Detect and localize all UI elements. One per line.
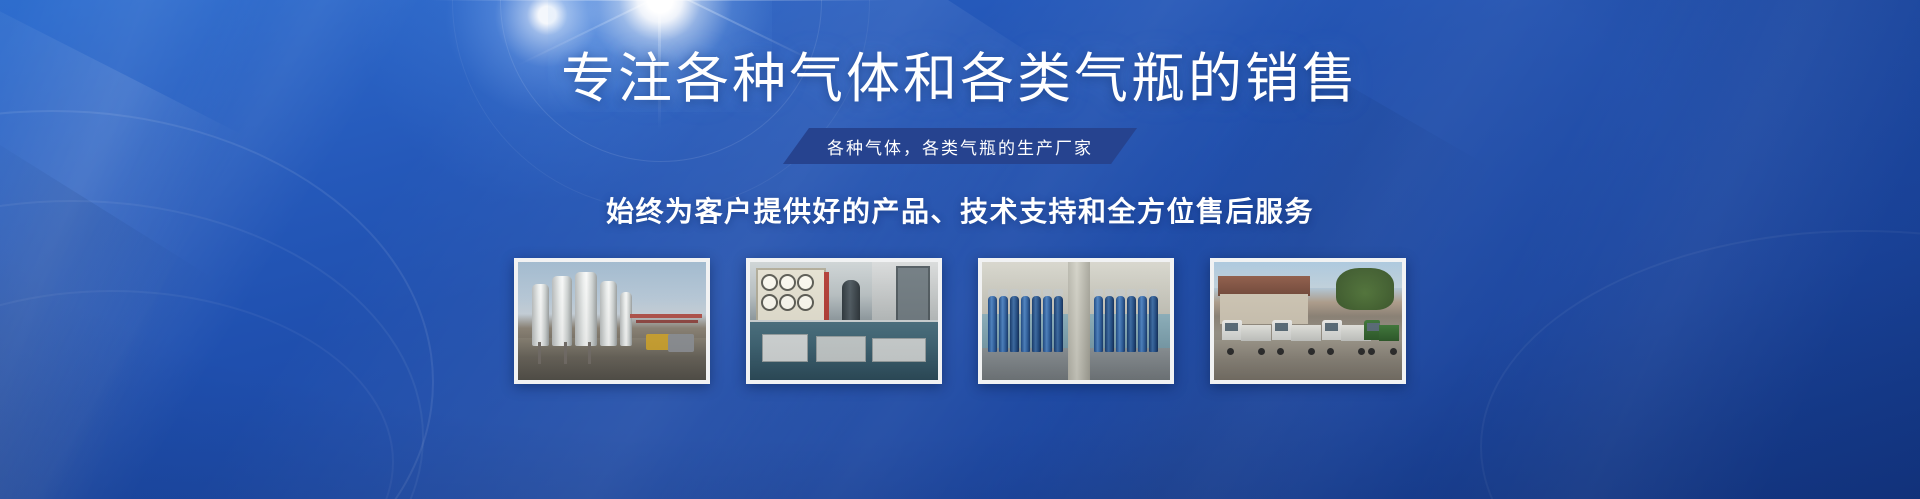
delivery-trucks-photo[interactable] bbox=[1210, 258, 1406, 384]
banner-content: 专注各种气体和各类气瓶的销售 各种气体，各类气瓶的生产厂家 始终为客户提供好的产… bbox=[0, 0, 1920, 499]
storage-tanks-photo[interactable] bbox=[514, 258, 710, 384]
banner-tagline: 始终为客户提供好的产品、技术支持和全方位售后服务 bbox=[606, 190, 1314, 230]
banner-headline: 专注各种气体和各类气瓶的销售 bbox=[561, 52, 1359, 106]
testing-equipment-photo[interactable] bbox=[746, 258, 942, 384]
banner-ribbon: 各种气体，各类气瓶的生产厂家 bbox=[783, 128, 1137, 164]
cylinder-storage-photo[interactable] bbox=[978, 258, 1174, 384]
banner-ribbon-label: 各种气体，各类气瓶的生产厂家 bbox=[827, 134, 1093, 159]
banner-ribbon-wrap: 各种气体，各类气瓶的生产厂家 bbox=[783, 128, 1137, 164]
hero-banner: 专注各种气体和各类气瓶的销售 各种气体，各类气瓶的生产厂家 始终为客户提供好的产… bbox=[0, 0, 1920, 499]
thumbnail-strip bbox=[514, 258, 1406, 384]
